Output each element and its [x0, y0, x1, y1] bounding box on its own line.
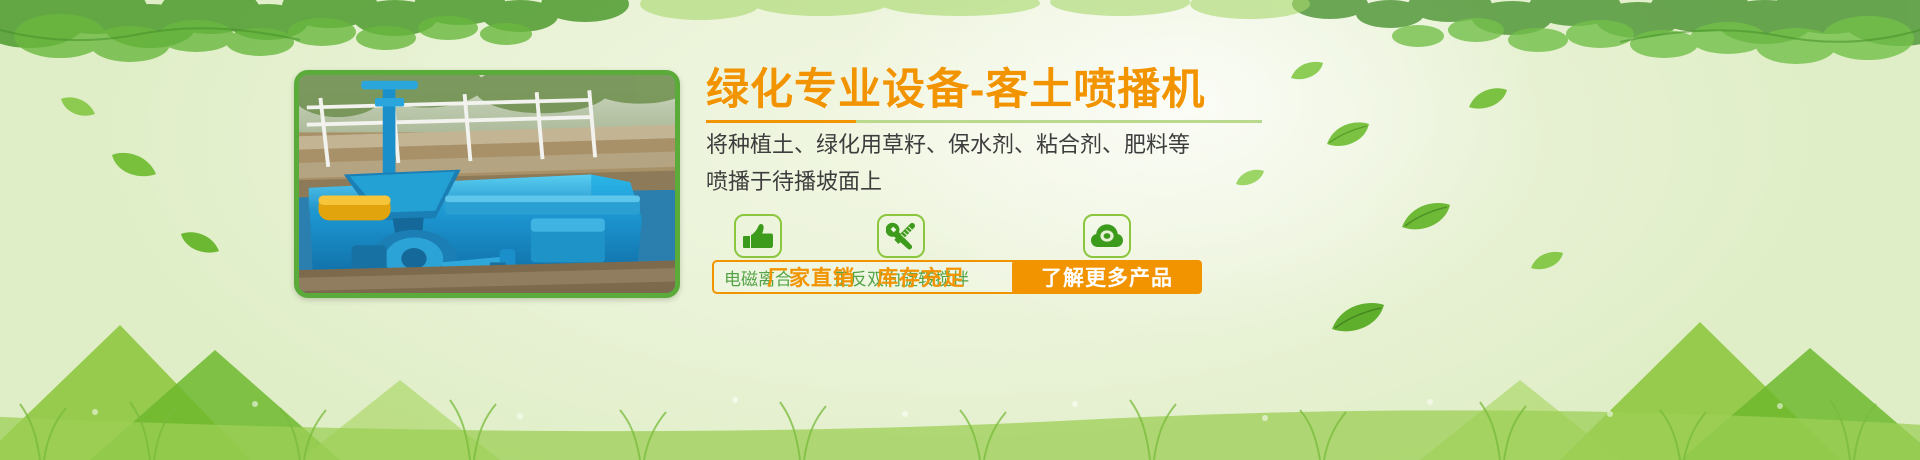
- cta-tag-left: 厂家直销: [767, 262, 855, 292]
- product-photo: [294, 70, 680, 298]
- floating-leaf-icon: [1468, 86, 1508, 117]
- title-divider: [706, 120, 1262, 123]
- cta-tagline: 厂家直销 库存充足: [714, 262, 1012, 292]
- page-title: 绿化专业设备-客土喷播机: [706, 68, 1326, 113]
- floating-leaf-icon: [1530, 250, 1564, 277]
- banner-content: 绿化专业设备-客土喷播机 将种植土、绿化用草籽、保水剂、粘合剂、肥料等 喷播于待…: [706, 68, 1326, 290]
- cta-bar: 厂家直销 库存充足 了解更多产品: [712, 260, 1202, 294]
- wrench-screwdriver-icon: [877, 214, 925, 258]
- thumbs-up-icon: [734, 214, 782, 258]
- learn-more-button[interactable]: 了解更多产品: [1012, 260, 1202, 294]
- subtitle-line-1: 将种植土、绿化用草籽、保水剂、粘合剂、肥料等: [706, 131, 1326, 160]
- grass-decoration: [0, 352, 1920, 460]
- floating-leaf-icon: [60, 95, 96, 124]
- cta-tag-right: 库存充足: [877, 262, 965, 292]
- floating-leaf-icon: [1325, 120, 1371, 155]
- floating-leaf-icon: [110, 150, 158, 185]
- floating-leaf-icon: [1330, 300, 1386, 341]
- engine-cloud-icon: [1083, 214, 1131, 258]
- subtitle-line-2: 喷播于待播坡面上: [706, 168, 1326, 197]
- floating-leaf-icon: [180, 230, 220, 261]
- floating-leaf-icon: [1400, 200, 1452, 239]
